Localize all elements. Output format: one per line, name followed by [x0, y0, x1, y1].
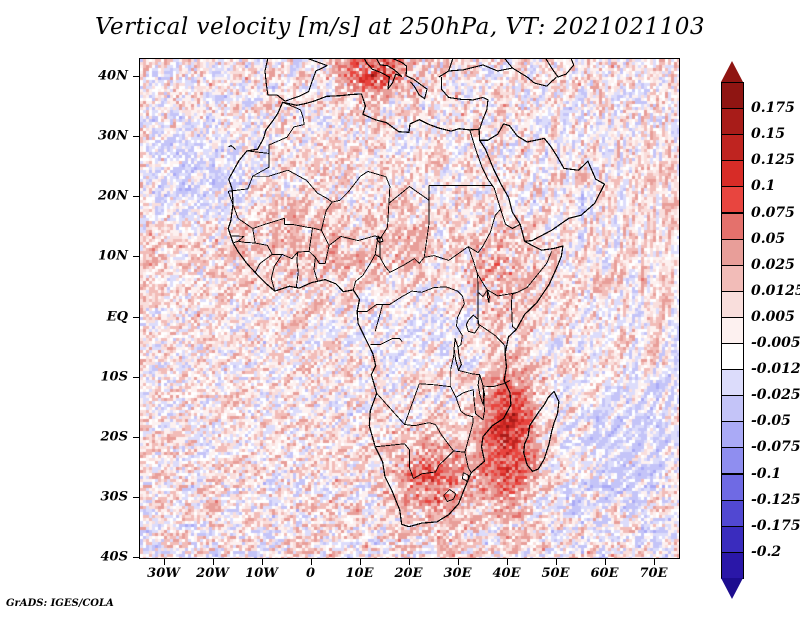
x-axis-tick-label: 50E [542, 566, 570, 581]
colorbar-tick-label: 0.175 [751, 100, 795, 116]
map-outline [478, 324, 506, 354]
x-axis-tick-label: 40E [493, 566, 521, 581]
map-outline [441, 77, 488, 129]
colorbar-tick-label: 0.05 [751, 231, 785, 247]
colorbar-tick-label: 0.005 [751, 309, 795, 325]
map-outline [436, 425, 454, 452]
x-axis-tick [262, 559, 263, 565]
colorbar-segment [721, 82, 744, 109]
colorbar-segment [721, 447, 744, 474]
x-axis-tick [458, 559, 459, 565]
y-axis-tick-label: 20S [80, 429, 128, 444]
colorbar-tick-label: -0.175 [751, 518, 800, 534]
x-axis-tick [654, 559, 655, 565]
map-outline [348, 59, 427, 99]
colorbar-tick-label: -0.075 [751, 439, 800, 455]
map-outline [454, 339, 461, 371]
map-outline [253, 228, 313, 259]
colorbar-segment [721, 421, 744, 448]
colorbar-segment [721, 474, 744, 501]
map-outline [462, 473, 468, 482]
colorbar-tick-label: -0.125 [751, 492, 800, 508]
colorbar-segment [721, 552, 744, 579]
map-outline [314, 257, 317, 280]
map-outline [478, 274, 488, 296]
colorbar-segment [721, 134, 744, 161]
map-outline [228, 191, 332, 230]
map-outline [524, 392, 559, 472]
map-outline [229, 146, 236, 150]
y-axis-tick-label: 20N [80, 189, 128, 204]
y-axis-tick [133, 377, 139, 378]
x-axis-tick-label: 60E [591, 566, 619, 581]
x-axis-tick [409, 559, 410, 565]
map-outline [451, 349, 475, 402]
colorbar-tick-label: -0.2 [751, 544, 781, 560]
colorbar-tick-label: 0.075 [751, 205, 795, 221]
colorbar-segment [721, 239, 744, 266]
map-outline [439, 65, 557, 86]
map-outline [253, 170, 368, 202]
map-outline [357, 304, 383, 311]
map-outline [457, 296, 465, 326]
map-outline [456, 398, 473, 453]
x-axis-tick [360, 559, 361, 565]
map-outline [380, 187, 429, 273]
colorbar-segment [721, 265, 744, 292]
x-axis-tick [605, 559, 606, 565]
colorbar-segment [721, 213, 744, 240]
map-outline [362, 59, 402, 89]
colorbar-tick-label: 0.0125 [751, 283, 800, 299]
y-axis-tick-label: 30N [80, 129, 128, 144]
map-outline [466, 315, 479, 333]
y-axis-tick-label: 10S [80, 369, 128, 384]
map-outline [487, 251, 551, 296]
map-outline [228, 94, 563, 527]
colorbar-tick-label: 0.025 [751, 257, 795, 273]
colorbar-segment [721, 317, 744, 344]
map-outline [544, 59, 573, 77]
colorbar-bottom-arrow [721, 578, 743, 599]
y-axis-tick-label: 40S [80, 550, 128, 565]
colorbar-top-arrow [721, 61, 743, 82]
map-outline [255, 254, 272, 272]
grads-plot-page: Vertical velocity [m/s] at 250hPa, VT: 2… [0, 0, 800, 618]
colorbar-segment [721, 160, 744, 187]
map-outline [511, 292, 517, 329]
colorbar-segment [721, 526, 744, 553]
map-outline [248, 102, 304, 153]
x-axis-tick-label: 20E [395, 566, 423, 581]
colorbar-tick-label: -0.1 [751, 466, 781, 482]
map-outline [228, 153, 269, 191]
colorbar-tick-label: 0.1 [751, 178, 775, 194]
colorbar-tick-label: -0.005 [751, 335, 800, 351]
x-axis-tick-label: 20W [196, 566, 229, 581]
colorbar-tick-label: -0.0125 [751, 361, 800, 377]
x-axis-tick [164, 559, 165, 565]
colorbar-tick-label: 0.125 [751, 152, 795, 168]
colorbar-tick-label: 0.15 [751, 126, 785, 142]
y-axis-tick [133, 437, 139, 438]
x-axis-tick-label: 30W [147, 566, 180, 581]
y-axis-tick-label: 10N [80, 249, 128, 264]
y-axis-tick [133, 256, 139, 257]
map-outline [353, 254, 380, 290]
colorbar-segment [721, 369, 744, 396]
colorbar-segment [721, 343, 744, 370]
map-outline [465, 452, 471, 472]
x-axis-tick-label: 70E [640, 566, 668, 581]
x-axis-tick-label: 0 [306, 566, 315, 581]
map-plot-area [139, 58, 680, 559]
x-axis-tick-label: 10W [245, 566, 278, 581]
x-axis-tick [556, 559, 557, 565]
x-axis-tick-label: 30E [444, 566, 472, 581]
map-outline [424, 209, 500, 260]
footer-credit: GrADS: IGES/COLA [6, 598, 114, 609]
colorbar-tick-label: -0.025 [751, 387, 800, 403]
y-axis-tick [133, 557, 139, 558]
colorbar-segment [721, 186, 744, 213]
x-axis-tick-label: 10E [346, 566, 374, 581]
map-outline [413, 451, 465, 479]
map-outline [271, 254, 282, 291]
map-outline [405, 423, 436, 426]
colorbar-segment [721, 500, 744, 527]
map-outline [233, 241, 255, 243]
map-outline [265, 59, 327, 101]
colorbar-segment [721, 395, 744, 422]
y-axis-tick [133, 497, 139, 498]
y-axis-tick [133, 317, 139, 318]
y-axis-tick [133, 76, 139, 77]
map-outline [449, 59, 513, 71]
map-outline [375, 287, 462, 331]
map-outline [480, 124, 605, 241]
colorbar-tick-label: -0.05 [751, 413, 791, 429]
map-outline [375, 444, 413, 479]
coastline-overlay [140, 59, 679, 558]
map-outline [370, 339, 402, 345]
y-axis-tick [133, 196, 139, 197]
y-axis-tick [133, 136, 139, 137]
map-outline [309, 245, 329, 263]
y-axis-tick-label: EQ [80, 309, 128, 324]
map-outline [296, 252, 298, 287]
x-axis-tick [311, 559, 312, 565]
colorbar-segment [721, 291, 744, 318]
map-outline [377, 384, 451, 425]
map-outline [444, 490, 456, 502]
x-axis-tick [213, 559, 214, 565]
y-axis-tick-label: 30S [80, 489, 128, 504]
map-outline [459, 370, 480, 374]
x-axis-tick [507, 559, 508, 565]
colorbar-segment [721, 108, 744, 135]
map-outline [487, 290, 489, 303]
map-outline [478, 292, 479, 323]
page-title: Vertical velocity [m/s] at 250hPa, VT: 2… [0, 14, 800, 40]
y-axis-tick-label: 40N [80, 69, 128, 84]
